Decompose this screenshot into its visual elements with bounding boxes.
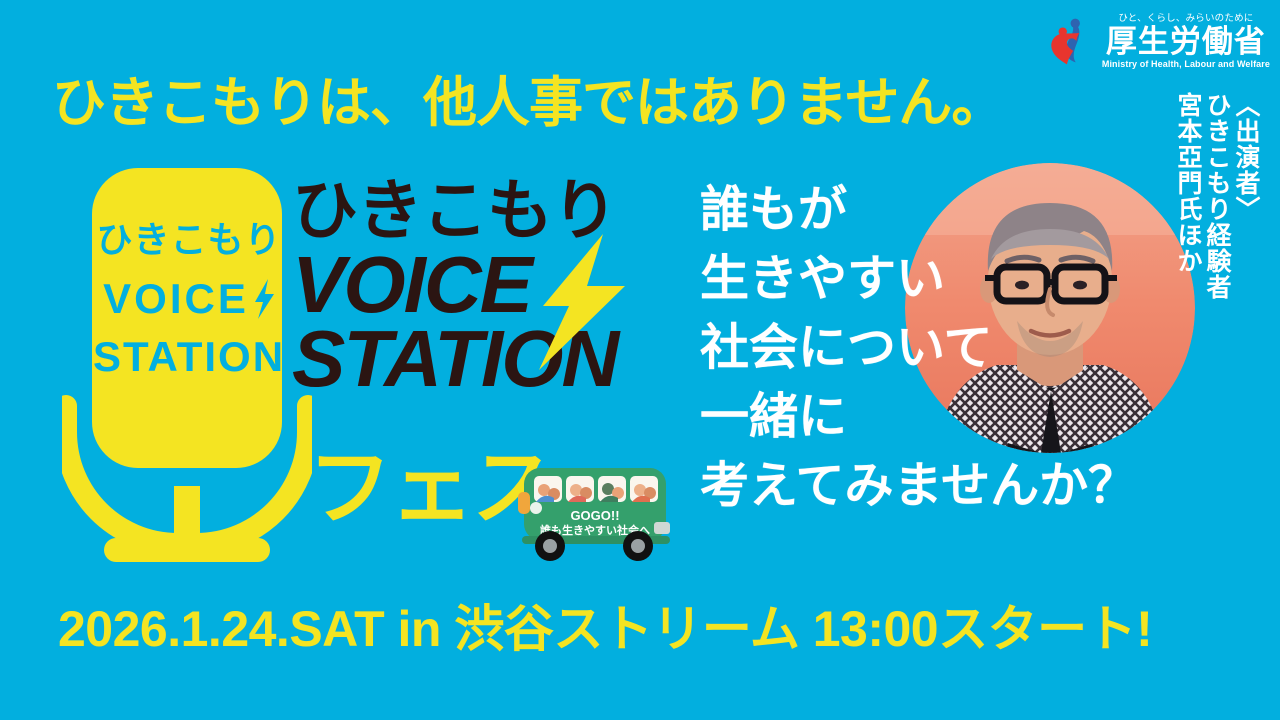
wordmark-voice: VOICE xyxy=(292,247,712,323)
message-line-2: 生きやすい xyxy=(700,245,1137,314)
message-line-1: 誰もが xyxy=(700,176,1137,245)
bus-illustration-icon: GOGO!! 誰も生きやすい社会へ xyxy=(516,452,676,564)
ministry-name-ja: 厚生労働省 xyxy=(1106,26,1266,58)
ministry-logo: ひと、くらし、みらいのために 厚生労働省 Ministry of Health,… xyxy=(1043,14,1270,69)
ministry-logo-mark xyxy=(1043,16,1095,68)
poster-canvas: ひと、くらし、みらいのために 厚生労働省 Ministry of Health,… xyxy=(0,0,1280,720)
message-line-3: 社会について xyxy=(700,314,1137,383)
wordmark-jp: ひきこもり xyxy=(292,178,712,243)
guest-caption: 〈出演者〉 ひきこもり経験者 宮本亞門氏ほか xyxy=(1175,92,1258,300)
lightning-bolt-icon xyxy=(525,234,635,370)
guest-caption-col-2: ひきこもり経験者 xyxy=(1204,92,1229,300)
ministry-tagline: ひと、くらし、みらいのために xyxy=(1118,14,1253,24)
ministry-logo-words: ひと、くらし、みらいのために 厚生労働省 Ministry of Health,… xyxy=(1102,14,1270,69)
event-details-line: 2026.1.24.SAT in 渋谷ストリーム 13:00スタート! xyxy=(58,604,1152,654)
message-line-5: 考えてみませんか？ xyxy=(700,452,1137,521)
guest-caption-col-3: 宮本亞門氏ほか xyxy=(1175,92,1200,300)
wordmark-station: STATION xyxy=(292,321,712,397)
ministry-name-en: Ministry of Health, Labour and Welfare xyxy=(1102,60,1270,69)
message-block: 誰もが 生きやすい 社会について 一緒に 考えてみませんか？ xyxy=(700,176,1137,521)
microphone-logo-icon xyxy=(62,168,312,568)
guest-caption-col-1: 〈出演者〉 xyxy=(1233,92,1258,300)
headline-text: ひきこもりは、他人事ではありません。 xyxy=(52,76,1004,130)
bus-headline-text: GOGO!! xyxy=(570,508,619,523)
event-wordmark: ひきこもり VOICE STATION xyxy=(292,178,712,397)
message-line-4: 一緒に xyxy=(700,383,1137,452)
